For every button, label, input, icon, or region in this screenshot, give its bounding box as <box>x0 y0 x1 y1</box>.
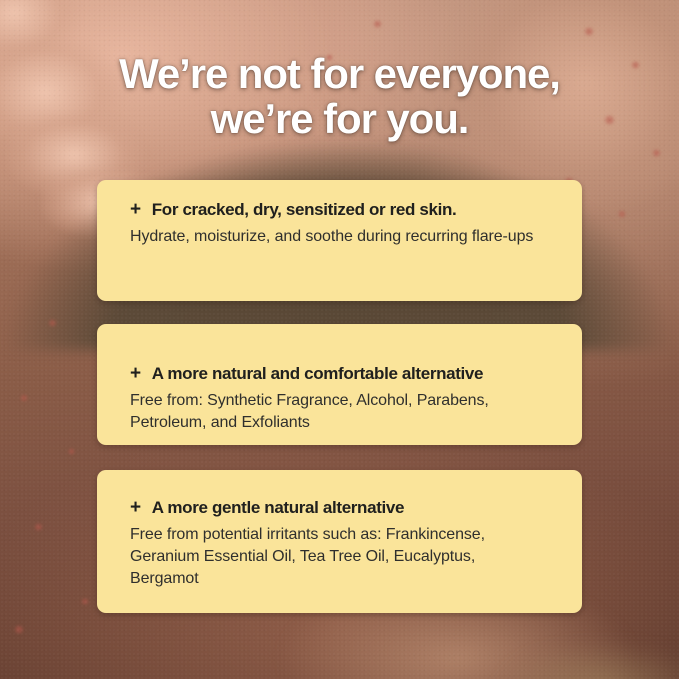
benefit-card-2-heading-text: A more natural and comfortable alternati… <box>152 364 483 384</box>
page-title: We’re not for everyone, we’re for you. <box>0 52 679 142</box>
benefit-card-3[interactable]: + A more gentle natural alternative Free… <box>97 470 582 613</box>
plus-icon: + <box>130 364 141 383</box>
benefit-card-list: + For cracked, dry, sensitized or red sk… <box>97 180 582 613</box>
benefit-card-3-heading: + A more gentle natural alternative <box>130 498 552 518</box>
benefit-card-1-heading-text: For cracked, dry, sensitized or red skin… <box>152 200 457 220</box>
benefit-card-3-body: Free from potential irritants such as: F… <box>130 524 535 589</box>
benefit-card-3-heading-text: A more gentle natural alternative <box>152 498 404 518</box>
plus-icon: + <box>130 200 141 219</box>
promo-graphic: We’re not for everyone, we’re for you. +… <box>0 0 679 679</box>
benefit-card-2-body: Free from: Synthetic Fragrance, Alcohol,… <box>130 390 535 434</box>
benefit-card-1-body: Hydrate, moisturize, and soothe during r… <box>130 226 535 248</box>
benefit-card-1[interactable]: + For cracked, dry, sensitized or red sk… <box>97 180 582 301</box>
benefit-card-2-heading: + A more natural and comfortable alterna… <box>130 364 552 384</box>
benefit-card-1-heading: + For cracked, dry, sensitized or red sk… <box>130 200 552 220</box>
headline-line-1: We’re not for everyone, <box>119 50 560 97</box>
plus-icon: + <box>130 498 141 517</box>
benefit-card-2[interactable]: + A more natural and comfortable alterna… <box>97 324 582 445</box>
headline-line-2: we’re for you. <box>24 97 655 142</box>
